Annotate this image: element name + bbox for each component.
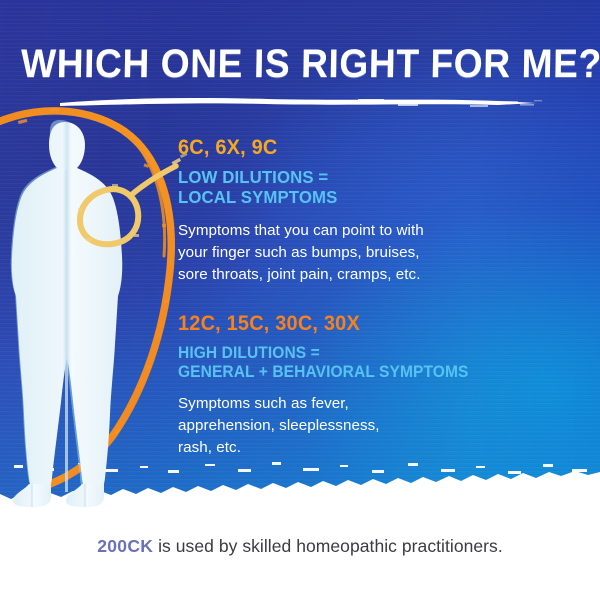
- dilution-block-high: 12C, 15C, 30C, 30X HIGH DILUTIONS = GENE…: [178, 312, 574, 460]
- dose-label-low: 6C, 6X, 9C: [178, 136, 554, 159]
- footer-potency-code: 200CK: [97, 536, 153, 556]
- description-low-line3: sore throats, joint pain, cramps, etc.: [178, 264, 574, 286]
- human-figure-artwork: [0, 104, 194, 514]
- description-low: Symptoms that you can point to with your…: [178, 220, 574, 287]
- description-low-line1: Symptoms that you can point to with: [178, 220, 574, 242]
- dilution-block-low: 6C, 6X, 9C LOW DILUTIONS = LOCAL SYMPTOM…: [178, 136, 574, 287]
- subtitle-low-line2: LOCAL SYMPTOMS: [178, 188, 558, 208]
- subtitle-high-line1: HIGH DILUTIONS =: [178, 344, 558, 362]
- description-high-line3: rash, etc.: [178, 437, 574, 459]
- dose-label-high: 12C, 15C, 30C, 30X: [178, 312, 554, 335]
- footer-note: 200CK is used by skilled homeopathic pra…: [0, 536, 600, 557]
- infographic-poster: WHICH ONE IS RIGHT FOR ME?: [0, 0, 600, 600]
- description-high-line2: apprehension, sleeplessness,: [178, 415, 574, 437]
- subtitle-low: LOW DILUTIONS = LOCAL SYMPTOMS: [178, 168, 558, 208]
- description-high-line1: Symptoms such as fever,: [178, 393, 574, 415]
- page-title: WHICH ONE IS RIGHT FOR ME?: [21, 42, 580, 87]
- footer-note-text: is used by skilled homeopathic practitio…: [153, 536, 503, 556]
- subtitle-high: HIGH DILUTIONS = GENERAL + BEHAVIORAL SY…: [178, 344, 558, 381]
- human-body-silhouette: [11, 120, 123, 507]
- subtitle-low-line1: LOW DILUTIONS =: [178, 168, 558, 188]
- description-low-line2: your finger such as bumps, bruises,: [178, 242, 574, 264]
- description-high: Symptoms such as fever, apprehension, sl…: [178, 393, 574, 460]
- subtitle-high-line2: GENERAL + BEHAVIORAL SYMPTOMS: [178, 363, 558, 381]
